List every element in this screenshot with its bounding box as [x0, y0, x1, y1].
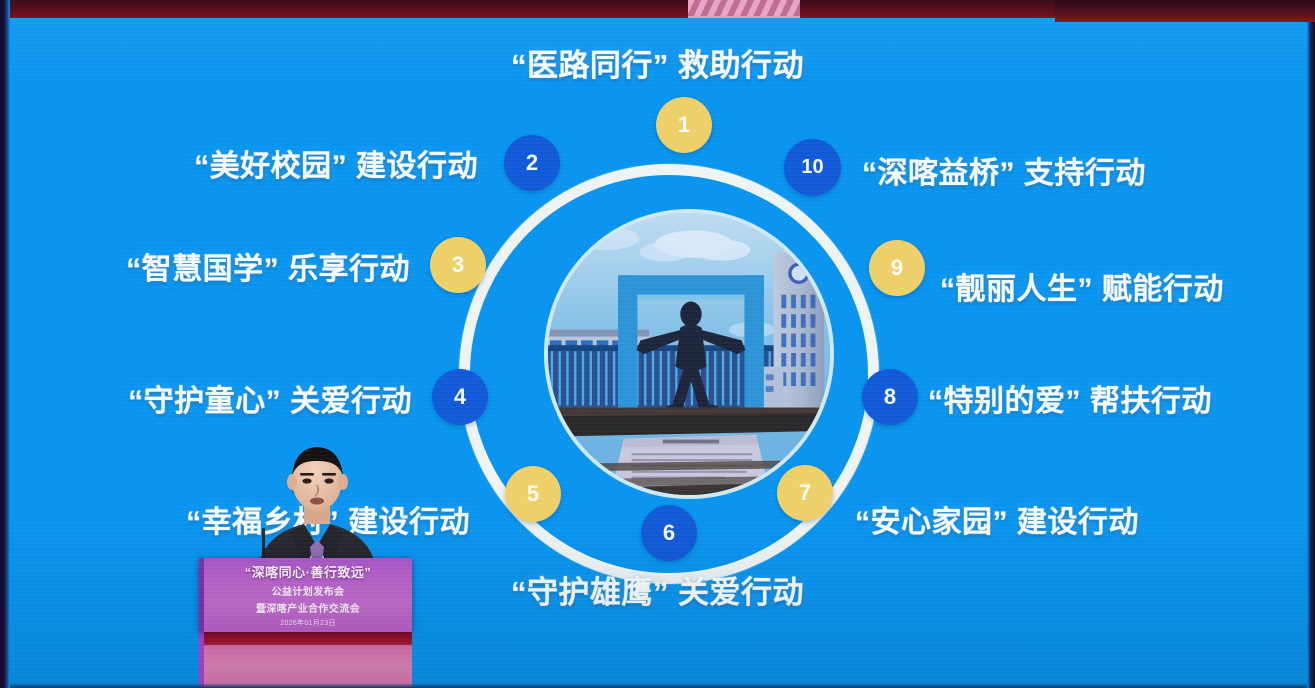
- label-6: “守护雄鹰” 关爱行动: [0, 567, 1315, 612]
- podium-sign: “深喀同心·善行致远” 公益计划发布会 暨深喀产业合作交流会 2026年01月2…: [199, 558, 412, 632]
- label-7: “安心家园” 建设行动: [855, 497, 1315, 541]
- label-1-text: “医路同行” 救助行动: [511, 48, 804, 83]
- label-10: “深喀益桥” 支持行动: [862, 148, 1315, 192]
- node-5-number: 5: [527, 481, 539, 507]
- label-9-text: “靓丽人生” 赋能行动: [940, 273, 1224, 306]
- node-8-number: 8: [884, 384, 896, 410]
- label-4-text: “守护童心” 关爱行动: [128, 385, 412, 418]
- label-6-text: “守护雄鹰” 关爱行动: [511, 575, 804, 610]
- venue-ceiling-band-right: [1055, 0, 1315, 22]
- node-8[interactable]: 8: [862, 369, 918, 425]
- label-7-text: “安心家园” 建设行动: [855, 506, 1139, 539]
- center-photo: [544, 209, 834, 499]
- statue-photo-illustration: [548, 213, 830, 495]
- label-4: “守护童心” 关爱行动: [0, 376, 424, 420]
- podium-date: 2026年01月23日: [280, 618, 335, 628]
- node-1-number: 1: [678, 112, 690, 138]
- venue-left-edge: [0, 0, 10, 688]
- node-7-number: 7: [799, 480, 811, 506]
- podium-line-2: 公益计划发布会: [272, 583, 345, 598]
- podium-line-3: 暨深喀产业合作交流会: [256, 600, 360, 615]
- node-3[interactable]: 3: [430, 237, 486, 293]
- podium-body: [199, 632, 412, 688]
- venue-right-edge: [1307, 0, 1315, 688]
- node-3-number: 3: [452, 252, 464, 278]
- label-8-text: “特别的爱” 帮扶行动: [928, 385, 1212, 418]
- ceiling-light-fixture: [688, 0, 800, 18]
- label-2-text: “美好校园” 建设行动: [194, 150, 478, 183]
- node-10-number: 10: [801, 156, 823, 179]
- node-5[interactable]: 5: [505, 466, 561, 522]
- venue-bottom-edge: [0, 683, 1315, 688]
- label-8: “特别的爱” 帮扶行动: [928, 376, 1315, 420]
- node-4-number: 4: [454, 384, 466, 410]
- presentation-screen-photo: 1 2 3 4 5 6 7 8 9 10 “医路同行” 救助行动 “美好校园” …: [0, 0, 1315, 688]
- label-1: “医路同行” 救助行动: [0, 40, 1315, 85]
- microphone-stand: [262, 528, 265, 562]
- node-2-number: 2: [526, 150, 538, 176]
- label-3: “智慧国学” 乐享行动: [0, 244, 422, 288]
- node-6-number: 6: [663, 520, 675, 546]
- node-4[interactable]: 4: [432, 369, 488, 425]
- label-10-text: “深喀益桥” 支持行动: [862, 157, 1146, 190]
- node-6[interactable]: 6: [641, 505, 697, 561]
- node-9-number: 9: [891, 255, 903, 281]
- node-1[interactable]: 1: [656, 97, 712, 153]
- node-9[interactable]: 9: [869, 240, 925, 296]
- label-2: “美好校园” 建设行动: [0, 141, 490, 185]
- podium-title: “深喀同心·善行致远”: [245, 562, 372, 581]
- node-10[interactable]: 10: [784, 139, 841, 196]
- label-3-text: “智慧国学” 乐享行动: [126, 253, 410, 286]
- label-9: “靓丽人生” 赋能行动: [940, 264, 1315, 308]
- node-7[interactable]: 7: [777, 465, 833, 521]
- node-2[interactable]: 2: [504, 135, 560, 191]
